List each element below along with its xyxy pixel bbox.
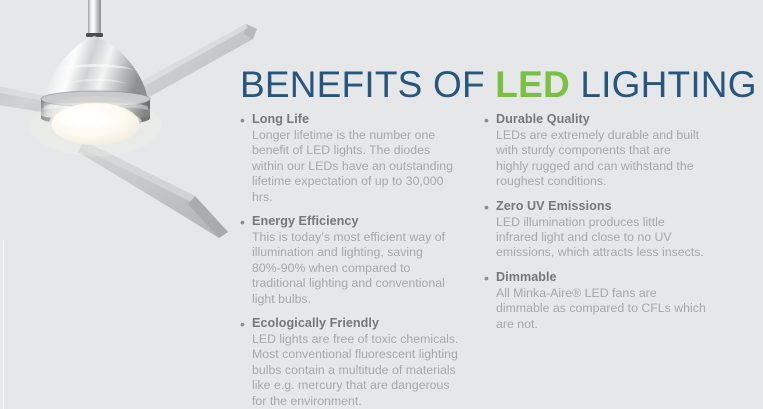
ceiling-fan-illustration [0, 0, 270, 240]
fan-downrod [86, 0, 103, 37]
benefit-body: LED illumination produces little infrare… [496, 215, 706, 261]
benefit-body: Longer lifetime is the number one benefi… [252, 128, 462, 205]
benefit-body: LED lights are free of toxic chemicals. … [252, 332, 462, 409]
title-highlight-led: LED [495, 64, 570, 105]
right-column: • Durable Quality LEDs are extremely dur… [484, 112, 706, 409]
benefit-text: Dimmable All Minka-Aire® LED fans are di… [496, 270, 706, 332]
left-column: • Long Life Longer lifetime is the numbe… [240, 112, 462, 409]
benefit-body: This is today’s most efficient way of il… [252, 230, 462, 307]
benefit-item-durable-quality: • Durable Quality LEDs are extremely dur… [484, 112, 706, 190]
benefit-title: Durable Quality [496, 112, 706, 127]
benefit-body: LEDs are extremely durable and built wit… [496, 128, 706, 190]
benefit-title: Long Life [252, 112, 462, 127]
led-benefits-banner: BENEFITS OF LED LIGHTING • Long Life Lon… [0, 0, 763, 409]
benefits-columns: • Long Life Longer lifetime is the numbe… [240, 112, 750, 409]
benefit-text: Energy Efficiency This is today’s most e… [252, 214, 462, 307]
bullet-marker-icon: • [484, 112, 496, 190]
benefit-item-zero-uv-emissions: • Zero UV Emissions LED illumination pro… [484, 199, 706, 261]
benefit-text: Durable Quality LEDs are extremely durab… [496, 112, 706, 190]
benefit-text: Ecologically Friendly LED lights are fre… [252, 316, 462, 409]
bullet-marker-icon: • [240, 112, 252, 205]
benefit-item-energy-efficiency: • Energy Efficiency This is today’s most… [240, 214, 462, 307]
benefit-item-dimmable: • Dimmable All Minka-Aire® LED fans are … [484, 270, 706, 332]
bullet-marker-icon: • [240, 316, 252, 409]
page-title: BENEFITS OF LED LIGHTING [240, 66, 757, 103]
benefit-item-ecologically-friendly: • Ecologically Friendly LED lights are f… [240, 316, 462, 409]
ceiling-fan-image [0, 0, 270, 240]
benefit-item-long-life: • Long Life Longer lifetime is the numbe… [240, 112, 462, 205]
bullet-marker-icon: • [240, 214, 252, 307]
benefit-title: Ecologically Friendly [252, 316, 462, 331]
bullet-marker-icon: • [484, 199, 496, 261]
title-part-2: LIGHTING [570, 64, 757, 105]
benefit-title: Zero UV Emissions [496, 199, 706, 214]
benefit-title: Energy Efficiency [252, 214, 462, 229]
title-part-1: BENEFITS OF [240, 64, 495, 105]
led-glow [30, 96, 162, 156]
benefit-text: Long Life Longer lifetime is the number … [252, 112, 462, 205]
benefit-title: Dimmable [496, 270, 706, 285]
benefit-text: Zero UV Emissions LED illumination produ… [496, 199, 706, 261]
benefit-body: All Minka-Aire® LED fans are dimmable as… [496, 286, 706, 332]
bullet-marker-icon: • [484, 270, 496, 332]
